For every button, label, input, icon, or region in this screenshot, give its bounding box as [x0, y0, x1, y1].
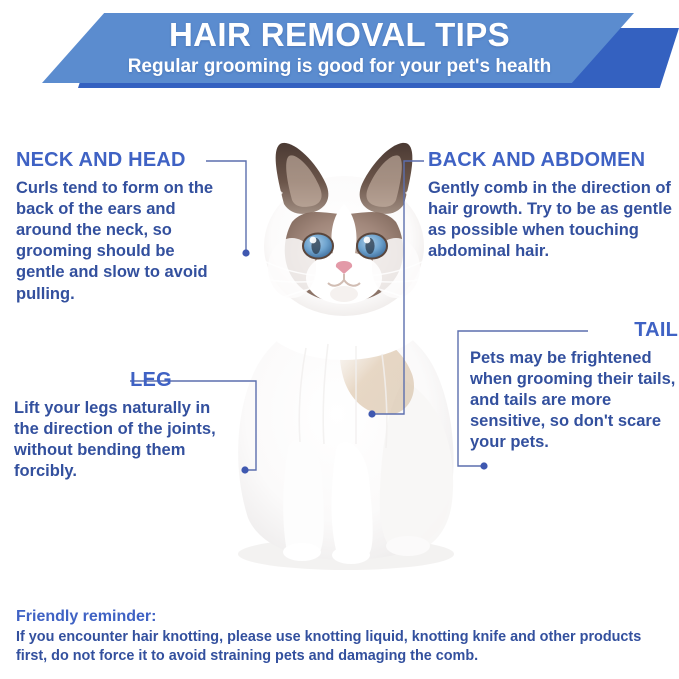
footer-title: Friendly reminder: — [16, 607, 666, 627]
callout-neck-and-head: NECK AND HEAD Curls tend to form on the … — [16, 150, 226, 305]
callout-heading-tail: TAIL — [470, 320, 678, 341]
footer-note: Friendly reminder: If you encounter hair… — [16, 607, 666, 665]
callout-back-and-abdomen: BACK AND ABDOMEN Gently comb in the dire… — [428, 150, 678, 262]
callout-leg: LEG Lift your legs naturally in the dire… — [14, 370, 234, 482]
footer-body: If you encounter hair knotting, please u… — [16, 628, 666, 665]
header-banner: HAIR REMOVAL TIPS Regular grooming is go… — [0, 0, 679, 100]
callout-body-neck: Curls tend to form on the back of the ea… — [16, 178, 226, 305]
infographic-root: HAIR REMOVAL TIPS Regular grooming is go… — [0, 0, 679, 679]
callout-body-leg: Lift your legs naturally in the directio… — [14, 398, 234, 482]
callout-heading-leg: LEG — [14, 370, 234, 391]
banner-main-shape — [42, 13, 634, 83]
callout-heading-back: BACK AND ABDOMEN — [428, 150, 678, 171]
callout-tail: TAIL Pets may be frightened when groomin… — [470, 320, 678, 454]
callout-heading-neck: NECK AND HEAD — [16, 150, 226, 171]
callout-body-back: Gently comb in the direction of hair gro… — [428, 178, 678, 262]
callout-body-tail: Pets may be frightened when grooming the… — [470, 348, 678, 454]
